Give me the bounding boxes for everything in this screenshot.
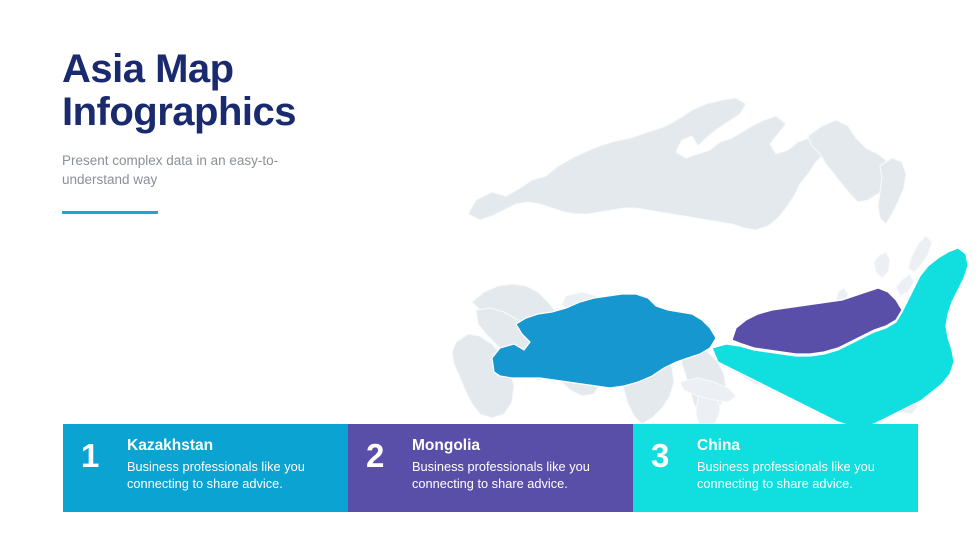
legend-number: 3 [651, 437, 697, 472]
legend-description: Business professionals like you connecti… [412, 458, 623, 492]
legend-number: 2 [366, 437, 412, 472]
legend-description: Business professionals like you connecti… [697, 458, 908, 492]
header-block: Asia Map Infographics Present complex da… [62, 48, 392, 214]
legend-description: Business professionals like you connecti… [127, 458, 338, 492]
legend-title: Mongolia [412, 437, 623, 456]
page-subtitle: Present complex data in an easy-to-under… [62, 152, 312, 188]
legend-card-2[interactable]: 2 Mongolia Business professionals like y… [348, 424, 633, 512]
legend-card-3[interactable]: 3 China Business professionals like you … [633, 424, 918, 512]
legend-title: China [697, 437, 908, 456]
slide-canvas: Asia Map Infographics Present complex da… [0, 0, 980, 551]
legend-title: Kazakhstan [127, 437, 338, 456]
page-title: Asia Map Infographics [62, 48, 392, 134]
legend-card-1[interactable]: 1 Kazakhstan Business professionals like… [63, 424, 348, 512]
accent-rule [62, 211, 158, 214]
legend-band: 1 Kazakhstan Business professionals like… [63, 424, 918, 512]
asia-map [380, 96, 980, 426]
legend-number: 1 [81, 437, 127, 472]
